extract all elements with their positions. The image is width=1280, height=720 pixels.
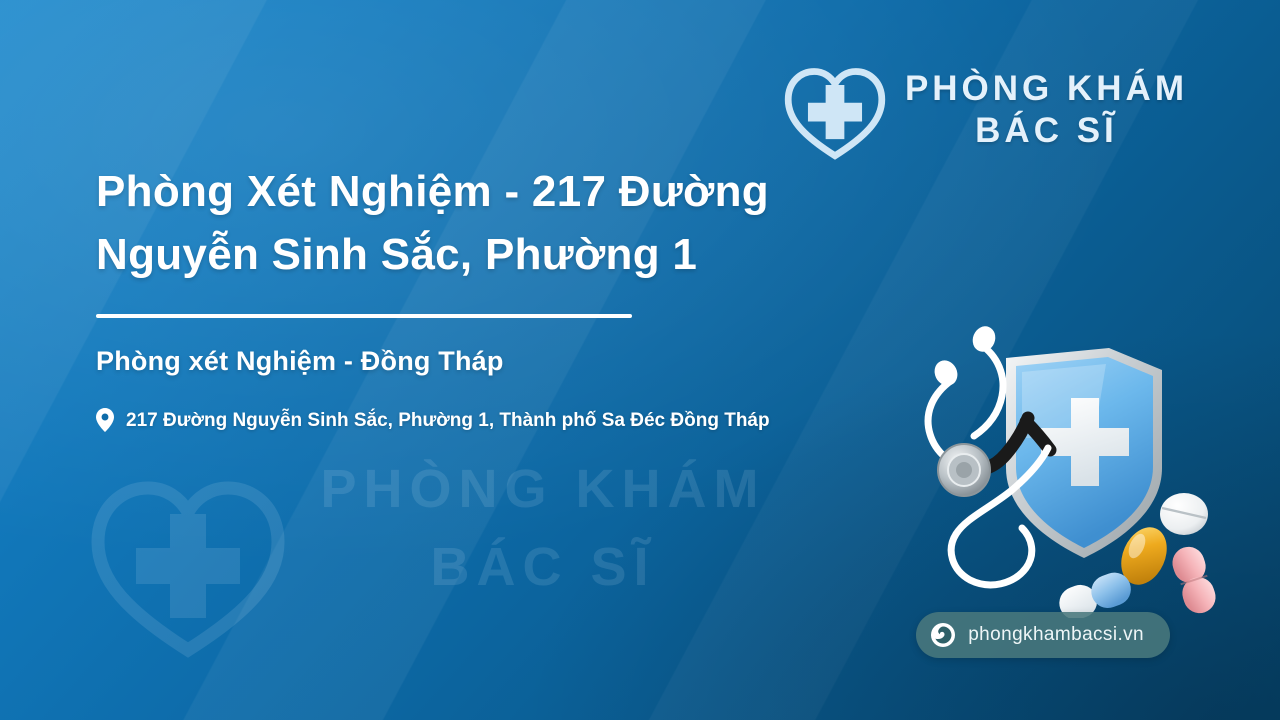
shield-with-cross (1006, 348, 1162, 558)
page-title: Phòng Xét Nghiệm - 217 Đường Nguyễn Sinh… (96, 160, 796, 286)
chest-piece (938, 444, 990, 496)
globe-icon (930, 622, 956, 648)
website-badge[interactable]: phongkhambacsi.vn (916, 612, 1170, 658)
white-tablet (1160, 493, 1208, 535)
address-text: 217 Đường Nguyễn Sinh Sắc, Phường 1, Thà… (126, 405, 770, 437)
blue-white-capsule (1055, 568, 1136, 618)
pink-capsule (1168, 543, 1219, 618)
divider (96, 314, 632, 318)
website-url-text: phongkhambacsi.vn (968, 624, 1144, 646)
brand-logo[interactable]: PHÒNG KHÁM BÁC SĨ (783, 58, 1188, 162)
main-content: Phòng Xét Nghiệm - 217 Đường Nguyễn Sinh… (96, 160, 816, 437)
medical-shield-stethoscope-pills-illustration (894, 318, 1224, 618)
address-row: 217 Đường Nguyễn Sinh Sắc, Phường 1, Thà… (96, 405, 816, 437)
brand-logo-line1: PHÒNG KHÁM (905, 70, 1188, 108)
brand-logo-text: PHÒNG KHÁM BÁC SĨ (905, 70, 1188, 150)
clinic-info-banner: PHÒNG KHÁM BÁC SĨ PHÒNG KHÁM BÁC SĨ Phòn… (0, 0, 1280, 720)
brand-logo-line2: BÁC SĨ (905, 112, 1188, 150)
heart-shield-cross-icon (783, 58, 887, 162)
subtitle: Phòng xét Nghiệm - Đồng Tháp (96, 346, 816, 377)
location-pin-icon (96, 408, 114, 432)
